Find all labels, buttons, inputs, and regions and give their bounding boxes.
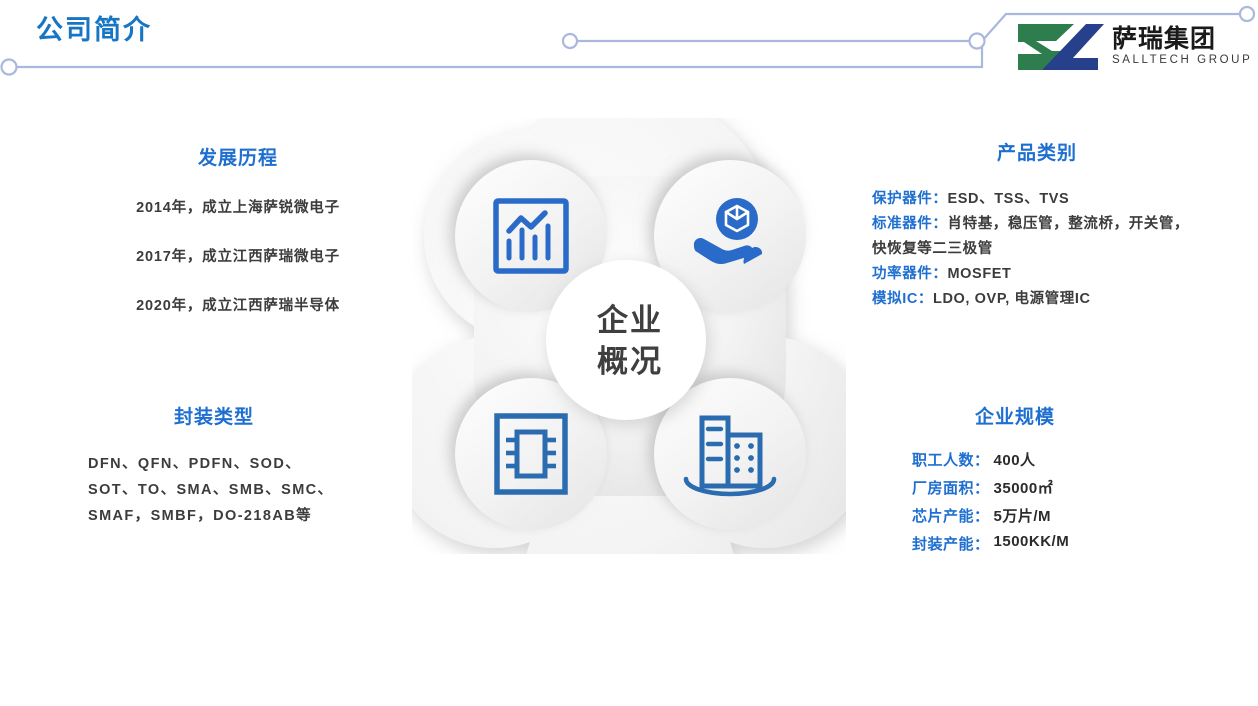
scale-heading: 企业规模 <box>872 402 1158 429</box>
product-label: 功率器件： <box>872 266 948 282</box>
scale-label: 厂房面积： <box>912 477 990 498</box>
product-row: 模拟IC：LDO, OVP, 电源管理IC <box>872 287 1202 312</box>
package-type-text: DFN、QFN、PDFN、SOD、SOT、TO、SMA、SMB、SMC、SMAF… <box>88 451 340 529</box>
package-heading: 封装类型 <box>88 402 340 429</box>
salltech-logo-mark <box>1012 18 1104 76</box>
scale-value: 5万片/M <box>994 505 1052 526</box>
product-label: 保护器件： <box>872 191 948 207</box>
logo-chinese-name: 萨瑞集团 <box>1112 27 1252 52</box>
product-row: 功率器件：MOSFET <box>872 262 1202 287</box>
scale-row: 职工人数：400人 <box>872 449 1158 470</box>
center-diagram-svg <box>412 118 846 554</box>
deco-node-left <box>2 60 17 75</box>
scale-list: 职工人数：400人 厂房面积：35000㎡ 芯片产能：5万片/M 封装产能：15… <box>872 449 1158 554</box>
scale-value: 1500KK/M <box>994 533 1070 554</box>
product-value: MOSFET <box>948 266 1012 282</box>
history-section: 发展历程 2014年，成立上海萨锐微电子 2017年，成立江西萨瑞微电子 202… <box>88 143 388 315</box>
product-value: ESD、TSS、TVS <box>948 191 1070 207</box>
product-list: 保护器件：ESD、TSS、TVS 标准器件：肖特基，稳压管，整流桥，开关管，快恢… <box>872 187 1202 312</box>
scale-label: 芯片产能： <box>912 505 990 526</box>
history-list: 2014年，成立上海萨锐微电子 2017年，成立江西萨瑞微电子 2020年，成立… <box>88 196 388 315</box>
history-item: 2017年，成立江西萨瑞微电子 <box>88 245 388 266</box>
scale-row: 芯片产能：5万片/M <box>872 505 1158 526</box>
product-value: LDO, OVP, 电源管理IC <box>933 291 1091 307</box>
logo-text-group: 萨瑞集团 SALLTECH GROUP <box>1112 27 1252 67</box>
history-item: 2014年，成立上海萨锐微电子 <box>88 196 388 217</box>
scale-label: 职工人数： <box>912 449 990 470</box>
product-row: 保护器件：ESD、TSS、TVS <box>872 187 1202 212</box>
product-heading: 产品类别 <box>872 138 1202 165</box>
scale-row: 封装产能：1500KK/M <box>872 533 1158 554</box>
center-core-circle <box>546 260 706 420</box>
product-row: 标准器件：肖特基，稳压管，整流桥，开关管，快恢复等二三极管 <box>872 212 1202 262</box>
logo-english-name: SALLTECH GROUP <box>1112 55 1252 67</box>
page-title: 公司简介 <box>36 8 152 47</box>
history-item: 2020年，成立江西萨瑞半导体 <box>88 294 388 315</box>
scale-value: 35000㎡ <box>994 477 1054 498</box>
history-heading: 发展历程 <box>88 143 388 170</box>
center-diagram: 企业 概况 <box>412 118 846 554</box>
scale-value: 400人 <box>994 449 1036 470</box>
scale-label: 封装产能： <box>912 533 990 554</box>
deco-node-mid-right <box>970 34 985 49</box>
package-section: 封装类型 DFN、QFN、PDFN、SOD、SOT、TO、SMA、SMB、SMC… <box>88 402 340 529</box>
product-section: 产品类别 保护器件：ESD、TSS、TVS 标准器件：肖特基，稳压管，整流桥，开… <box>872 138 1202 312</box>
scale-row: 厂房面积：35000㎡ <box>872 477 1158 498</box>
scale-section: 企业规模 职工人数：400人 厂房面积：35000㎡ 芯片产能：5万片/M 封装… <box>872 402 1158 561</box>
product-label: 标准器件： <box>872 216 948 232</box>
company-logo: 萨瑞集团 SALLTECH GROUP <box>1012 18 1252 76</box>
deco-node-mid-left <box>563 34 577 48</box>
product-label: 模拟IC： <box>872 291 933 307</box>
page-header: 公司简介 萨瑞集团 SALLTECH GROUP <box>0 0 1258 100</box>
